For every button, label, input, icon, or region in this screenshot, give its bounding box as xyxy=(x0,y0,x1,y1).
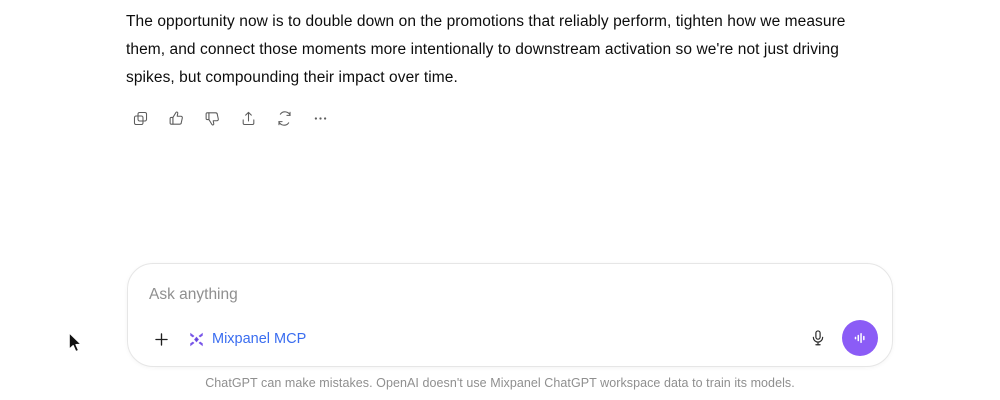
message-body-text: The opportunity now is to double down on… xyxy=(126,8,886,92)
footer-disclaimer: ChatGPT can make mistakes. OpenAI doesn'… xyxy=(0,376,1000,390)
mixpanel-logo-icon xyxy=(188,331,205,348)
mcp-connector-label: Mixpanel MCP xyxy=(212,331,306,347)
thumbs-up-button[interactable] xyxy=(162,105,190,131)
add-attachment-button[interactable] xyxy=(146,324,176,354)
share-button[interactable] xyxy=(234,105,262,131)
copy-icon xyxy=(132,110,149,127)
refresh-icon xyxy=(276,110,293,127)
thumbs-down-icon xyxy=(204,110,221,127)
regenerate-button[interactable] xyxy=(270,105,298,131)
plus-icon xyxy=(152,330,171,349)
more-options-button[interactable] xyxy=(306,105,334,131)
mcp-connector-chip[interactable]: Mixpanel MCP xyxy=(186,328,312,351)
message-action-bar xyxy=(126,105,334,131)
waveform-icon xyxy=(851,329,869,347)
assistant-message: The opportunity now is to double down on… xyxy=(126,8,886,92)
message-composer[interactable]: Mixpanel MCP xyxy=(127,263,893,367)
microphone-icon xyxy=(809,329,827,347)
share-icon xyxy=(240,110,257,127)
copy-button[interactable] xyxy=(126,105,154,131)
mouse-cursor xyxy=(68,332,84,354)
voice-mode-button[interactable] xyxy=(842,320,878,356)
thumbs-down-button[interactable] xyxy=(198,105,226,131)
microphone-button[interactable] xyxy=(804,324,832,352)
composer-toolbar-right xyxy=(804,320,878,356)
composer-input[interactable] xyxy=(149,284,749,306)
ellipsis-icon xyxy=(312,110,329,127)
composer-toolbar-left: Mixpanel MCP xyxy=(146,324,312,354)
thumbs-up-icon xyxy=(168,110,185,127)
